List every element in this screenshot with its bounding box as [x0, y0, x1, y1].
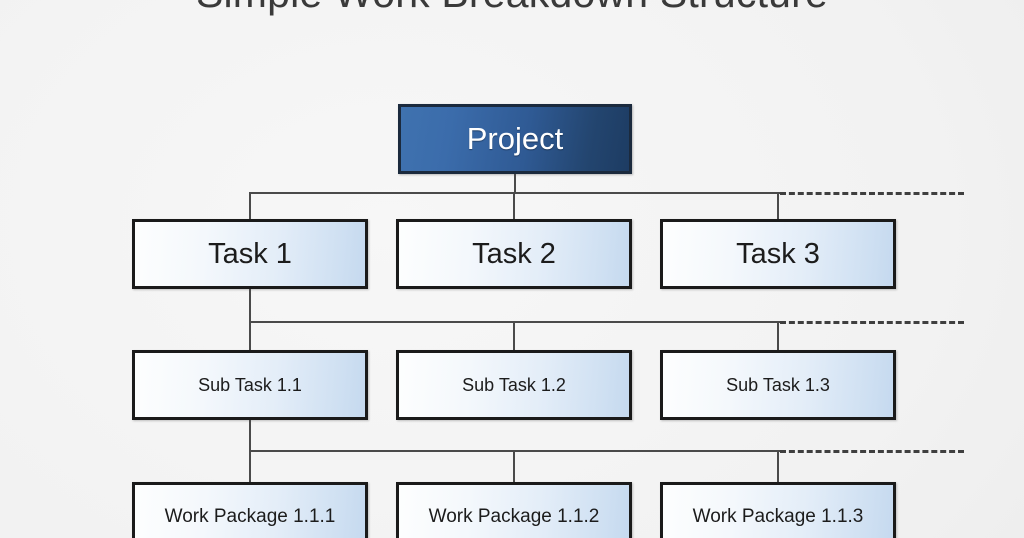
- node-task-1-label: Task 1: [135, 238, 365, 271]
- node-workpackage-1-1-3[interactable]: Work Package 1.1.3: [660, 482, 896, 538]
- slide-canvas: Simple Work Breakdown Structure Project …: [0, 0, 1024, 538]
- connector-project-drop: [514, 174, 516, 194]
- node-task-1[interactable]: Task 1: [132, 219, 368, 289]
- connector-drop-subtask-3: [777, 321, 779, 351]
- node-subtask-1-3-label: Sub Task 1.3: [663, 375, 893, 396]
- connector-drop-subtask-2: [513, 321, 515, 351]
- node-workpackage-1-1-2-label: Work Package 1.1.2: [399, 506, 629, 528]
- node-task-3-label: Task 3: [663, 238, 893, 271]
- node-task-2-label: Task 2: [399, 238, 629, 271]
- connector-drop-task-1: [249, 192, 251, 220]
- connector-dashed-subtask-level: [780, 321, 964, 324]
- connector-drop-workpackage-2: [513, 450, 515, 483]
- connector-drop-task-3: [777, 192, 779, 220]
- node-subtask-1-1[interactable]: Sub Task 1.1: [132, 350, 368, 420]
- node-subtask-1-1-label: Sub Task 1.1: [135, 375, 365, 396]
- connector-task1-drop: [249, 289, 251, 323]
- node-task-3[interactable]: Task 3: [660, 219, 896, 289]
- node-subtask-1-3[interactable]: Sub Task 1.3: [660, 350, 896, 420]
- node-workpackage-1-1-3-label: Work Package 1.1.3: [663, 506, 893, 528]
- node-subtask-1-2[interactable]: Sub Task 1.2: [396, 350, 632, 420]
- connector-dashed-task-level: [780, 192, 964, 195]
- connector-drop-workpackage-3: [777, 450, 779, 483]
- connector-drop-task-2: [513, 192, 515, 220]
- page-title: Simple Work Breakdown Structure: [0, 0, 1024, 17]
- connector-drop-subtask-1: [249, 321, 251, 351]
- connector-dashed-workpackage-level: [780, 450, 964, 453]
- node-project-label: Project: [401, 121, 629, 157]
- node-workpackage-1-1-2[interactable]: Work Package 1.1.2: [396, 482, 632, 538]
- node-subtask-1-2-label: Sub Task 1.2: [399, 375, 629, 396]
- connector-drop-workpackage-1: [249, 450, 251, 483]
- node-project[interactable]: Project: [398, 104, 632, 174]
- node-workpackage-1-1-1[interactable]: Work Package 1.1.1: [132, 482, 368, 538]
- node-workpackage-1-1-1-label: Work Package 1.1.1: [135, 506, 365, 528]
- node-task-2[interactable]: Task 2: [396, 219, 632, 289]
- connector-subtask11-drop: [249, 420, 251, 452]
